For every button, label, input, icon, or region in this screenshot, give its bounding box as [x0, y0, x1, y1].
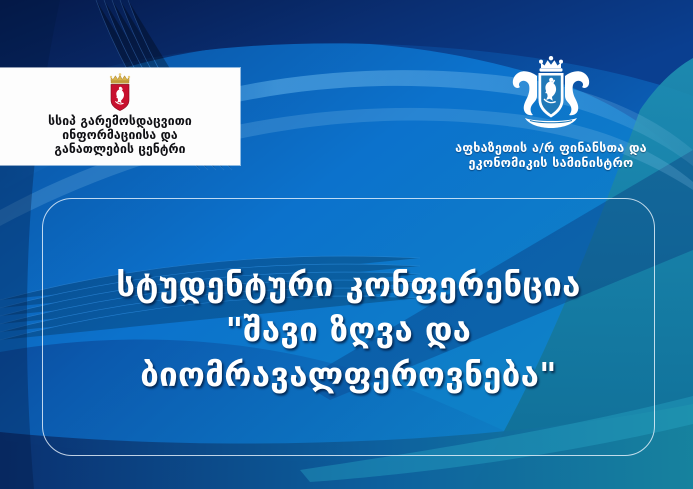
- title-card-frame: სტუდენტური კონფერენცია "შავი ზღვა და ბიო…: [42, 198, 655, 456]
- conference-title: სტუდენტური კონფერენცია "შავი ზღვა და ბიო…: [100, 262, 596, 397]
- georgian-city-coat-of-arms-icon: [106, 72, 134, 112]
- ministry-name: აფხაზეთის ა/რ ფინანსთა და ეკონომიკის სამ…: [455, 140, 647, 170]
- left-organization-name: სსიპ გარემოსდაცვითი ინფორმაციისა და განა…: [0, 114, 240, 157]
- right-ministry-block: აფხაზეთის ა/რ ფინანსთა და ეკონომიკის სამ…: [420, 56, 682, 170]
- georgia-national-coat-of-arms-icon: [499, 56, 603, 136]
- left-organization-logo: სსიპ გარემოსდაცვითი ინფორმაციისა და განა…: [0, 68, 240, 165]
- conference-announcement-poster: სსიპ გარემოსდაცვითი ინფორმაციისა და განა…: [0, 0, 693, 489]
